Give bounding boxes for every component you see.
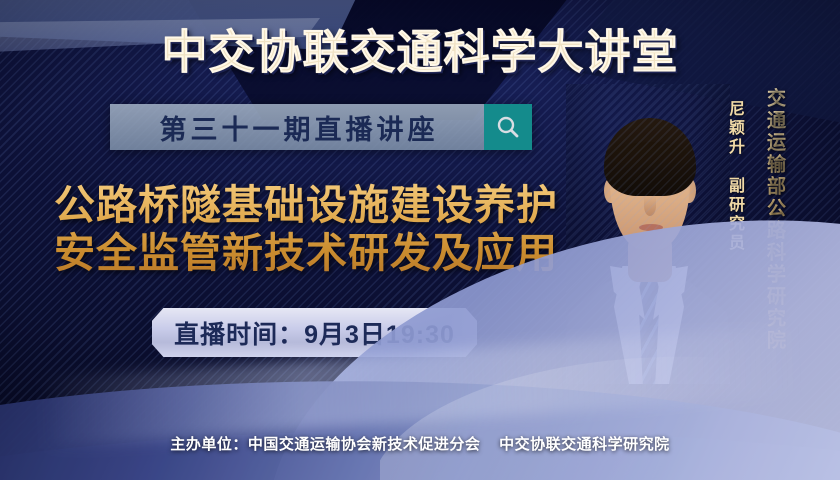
- lecture-title: 公路桥隧基础设施建设养护 安全监管新技术研发及应用: [28, 181, 584, 277]
- search-icon[interactable]: [484, 104, 532, 150]
- page-title: 中交协联交通科学大讲堂: [0, 16, 840, 82]
- episode-banner: 第三十一期直播讲座: [110, 104, 532, 150]
- organizer-footer: 主办单位：中国交通运输协会新技术促进分会 中交协联交通科学研究院: [0, 433, 840, 454]
- livestream-poster: 中交协联交通科学大讲堂 第三十一期直播讲座 公路桥隧基础设施建设养护 安全监管新…: [0, 0, 840, 480]
- episode-label: 第三十一期直播讲座: [110, 104, 484, 150]
